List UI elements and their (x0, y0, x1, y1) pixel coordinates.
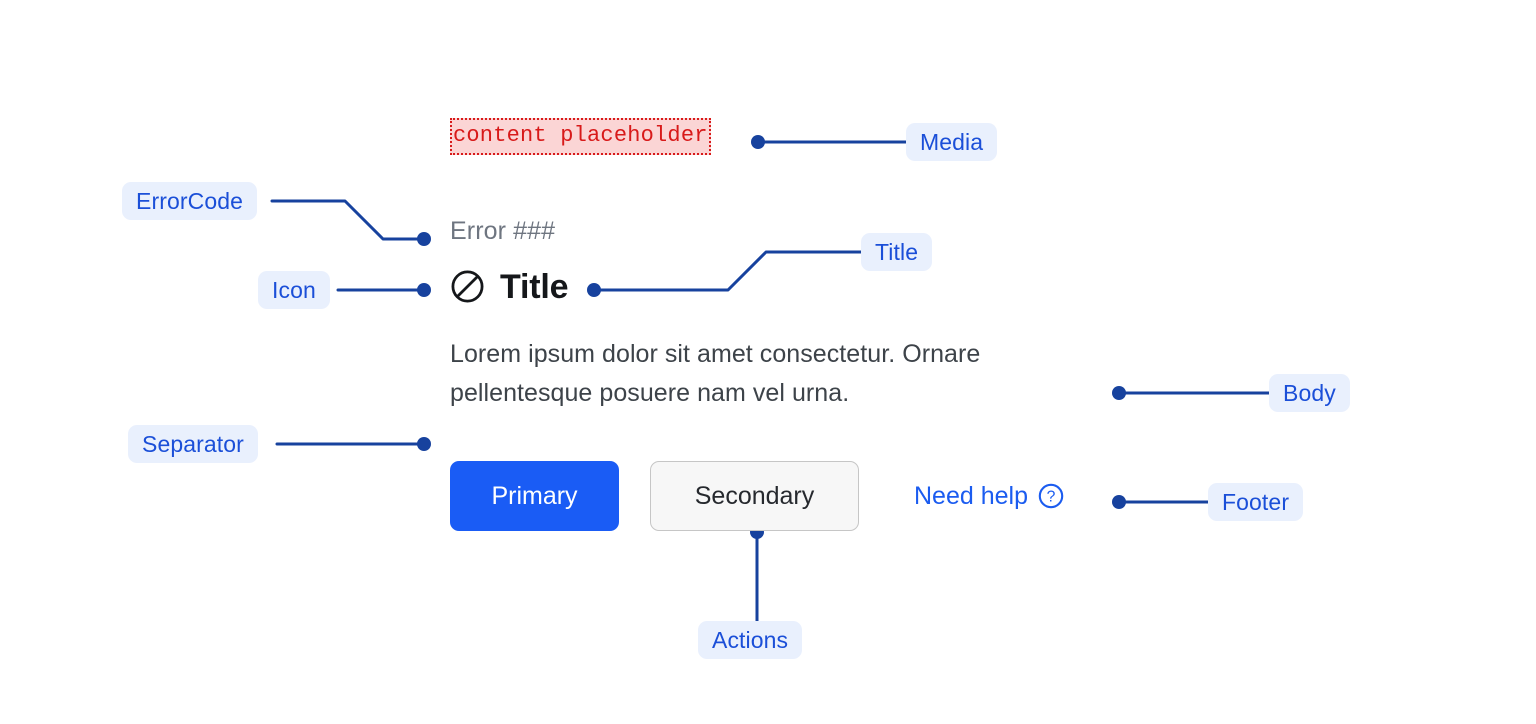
callout-title-label: Title (875, 241, 918, 264)
connector-errorcode (272, 201, 424, 239)
block-circle-slash-icon (450, 269, 485, 304)
error-state-component: content placeholder Error ### Title Lore… (450, 118, 1090, 531)
question-mark-circle-icon: ? (1037, 482, 1065, 510)
callout-actions-label: Actions (712, 629, 788, 652)
secondary-button[interactable]: Secondary (650, 461, 859, 531)
component-actions-row: Primary Secondary Need help ? (450, 461, 1090, 531)
callout-body[interactable]: Body (1269, 374, 1350, 412)
error-code-text: Error ### (450, 219, 1090, 244)
title-row: Title (450, 269, 1090, 304)
media-content-placeholder: content placeholder (450, 118, 711, 155)
callout-separator[interactable]: Separator (128, 425, 258, 463)
callout-separator-label: Separator (142, 433, 244, 456)
callout-errorcode-label: ErrorCode (136, 190, 243, 213)
component-title: Title (500, 270, 568, 304)
primary-button[interactable]: Primary (450, 461, 619, 531)
callout-icon[interactable]: Icon (258, 271, 330, 309)
callout-media-label: Media (920, 131, 983, 154)
callout-actions[interactable]: Actions (698, 621, 802, 659)
connector-dot-footer (1112, 495, 1126, 509)
callout-media[interactable]: Media (906, 123, 997, 161)
callout-footer-label: Footer (1222, 491, 1289, 514)
connector-dot-body (1112, 386, 1126, 400)
svg-text:?: ? (1047, 489, 1056, 506)
connector-dot-icon (417, 283, 431, 297)
need-help-link[interactable]: Need help ? (914, 482, 1065, 510)
annotation-canvas: content placeholder Error ### Title Lore… (0, 0, 1536, 724)
callout-icon-label: Icon (272, 279, 316, 302)
connector-dot-errorcode (417, 232, 431, 246)
need-help-label: Need help (914, 484, 1028, 509)
callout-body-label: Body (1283, 382, 1336, 405)
callout-errorcode[interactable]: ErrorCode (122, 182, 257, 220)
callout-footer[interactable]: Footer (1208, 483, 1303, 521)
callout-title[interactable]: Title (861, 233, 932, 271)
connector-dot-separator (417, 437, 431, 451)
component-body-text: Lorem ipsum dolor sit amet consectetur. … (450, 335, 1090, 413)
